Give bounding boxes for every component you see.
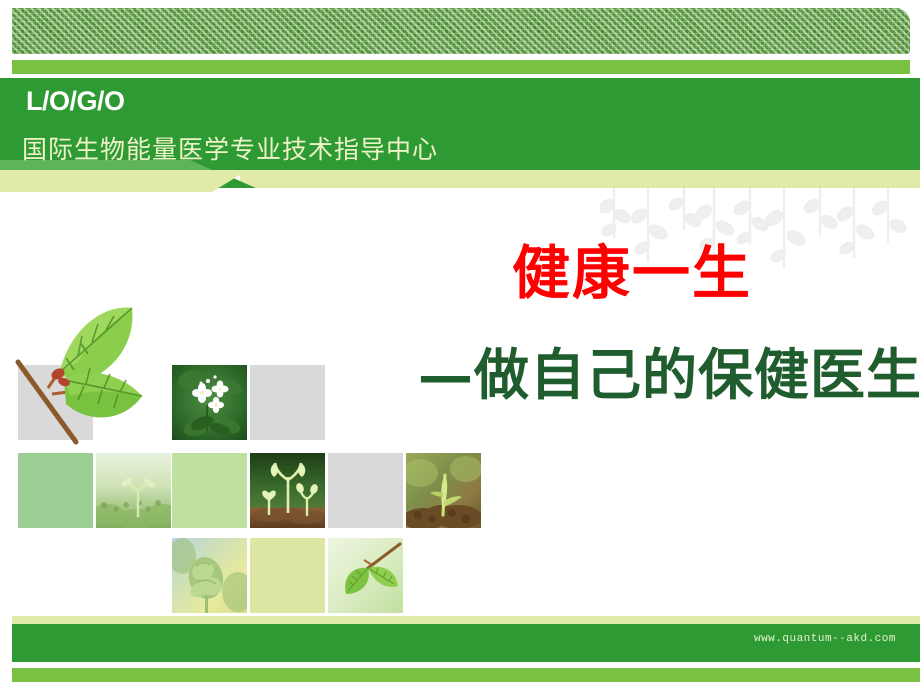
cell-white-flower [172, 365, 247, 440]
cell-pale-yellow [250, 538, 325, 613]
cell-gray-1 [250, 365, 325, 440]
cell-gray-2 [328, 453, 403, 528]
cell-soil-sprout [406, 453, 481, 528]
cell-two-leaves [328, 538, 403, 613]
cell-bud-closeup [172, 538, 247, 613]
photo-mosaic [0, 0, 920, 690]
cell-solid-green [18, 453, 93, 528]
footer-bright-green-bar [12, 668, 920, 682]
cell-moss-sprout [96, 453, 171, 528]
cell-three-seedlings [250, 453, 325, 528]
presentation-slide: L/O/G/O 国际生物能量医学专业技术指导中心 [0, 0, 920, 690]
footer-url[interactable]: www.quantum--akd.com [754, 633, 896, 645]
large-leaf-photo [8, 300, 168, 450]
cell-light-green [172, 453, 247, 528]
